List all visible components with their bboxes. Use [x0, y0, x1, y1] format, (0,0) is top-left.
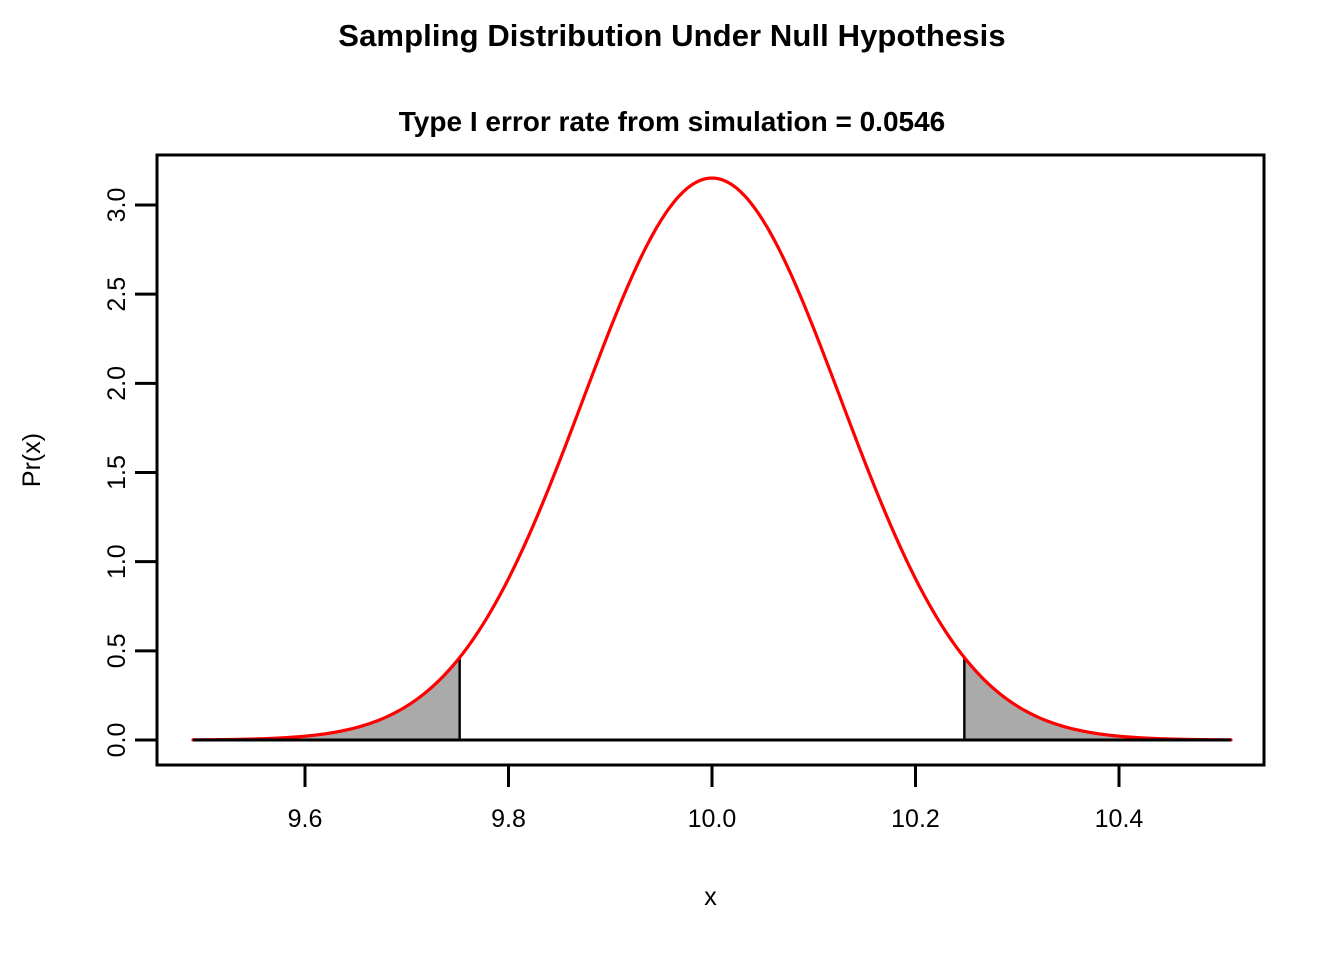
y-axis-title: Pr(x) [18, 433, 46, 487]
x-axis: 9.69.810.010.210.4 [288, 765, 1144, 833]
y-tick-label-0.0: 0.0 [103, 723, 131, 758]
y-tick-label-2.0: 2.0 [103, 366, 131, 401]
y-tick-label-1.5: 1.5 [103, 455, 131, 490]
y-tick-label-1.0: 1.0 [103, 544, 131, 579]
figure-canvas: Sampling Distribution Under Null Hypothe… [0, 0, 1344, 960]
x-tick-label-9.6: 9.6 [288, 805, 323, 833]
y-axis: 0.00.51.01.52.02.53.0 [103, 188, 157, 758]
x-tick-label-10.0: 10.0 [688, 805, 737, 833]
y-tick-label-3.0: 3.0 [103, 188, 131, 223]
density-curve [193, 178, 1231, 740]
normal-density-line [193, 178, 1231, 740]
x-tick-label-9.8: 9.8 [491, 805, 526, 833]
x-tick-label-10.2: 10.2 [891, 805, 940, 833]
y-tick-label-2.5: 2.5 [103, 277, 131, 312]
plot-frame [157, 155, 1264, 765]
rejection-region-shading [193, 658, 1231, 740]
y-tick-label-0.5: 0.5 [103, 633, 131, 668]
x-tick-label-10.4: 10.4 [1095, 805, 1144, 833]
frame-rect [157, 155, 1264, 765]
plot-area: 9.69.810.010.210.4 0.00.51.01.52.02.53.0… [0, 0, 1344, 960]
x-axis-title: x [704, 883, 717, 911]
axis-titles: xPr(x) [18, 433, 717, 911]
